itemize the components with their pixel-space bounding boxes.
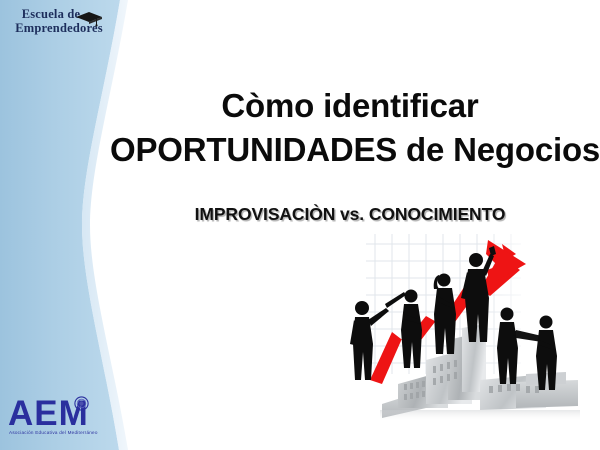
aem-logo: AEM Asociación Educativa del Mediterráne… xyxy=(6,398,118,435)
aem-tagline: Asociación Educativa del Mediterráneo xyxy=(6,430,118,435)
title-line-1: Còmo identificar xyxy=(110,84,590,128)
presentation-slide: Escuela de Emprendedores Còmo identifica… xyxy=(0,0,600,450)
businessman-arms-crossed xyxy=(401,290,422,369)
title-line-2: OPORTUNIDADES de Negocios? xyxy=(110,128,590,172)
business-growth-illustration xyxy=(330,232,598,422)
page-title: Còmo identificar OPORTUNIDADES de Negoci… xyxy=(110,84,590,171)
circular-seal-icon xyxy=(74,396,89,411)
graduation-cap-icon xyxy=(74,10,104,28)
page-subtitle: IMPROVISACIÒN vs. CONOCIMIENTO xyxy=(110,204,590,225)
side-decoration-band xyxy=(0,0,140,450)
aem-wordmark: AEM xyxy=(6,398,118,430)
businesswoman-standing xyxy=(434,274,456,355)
